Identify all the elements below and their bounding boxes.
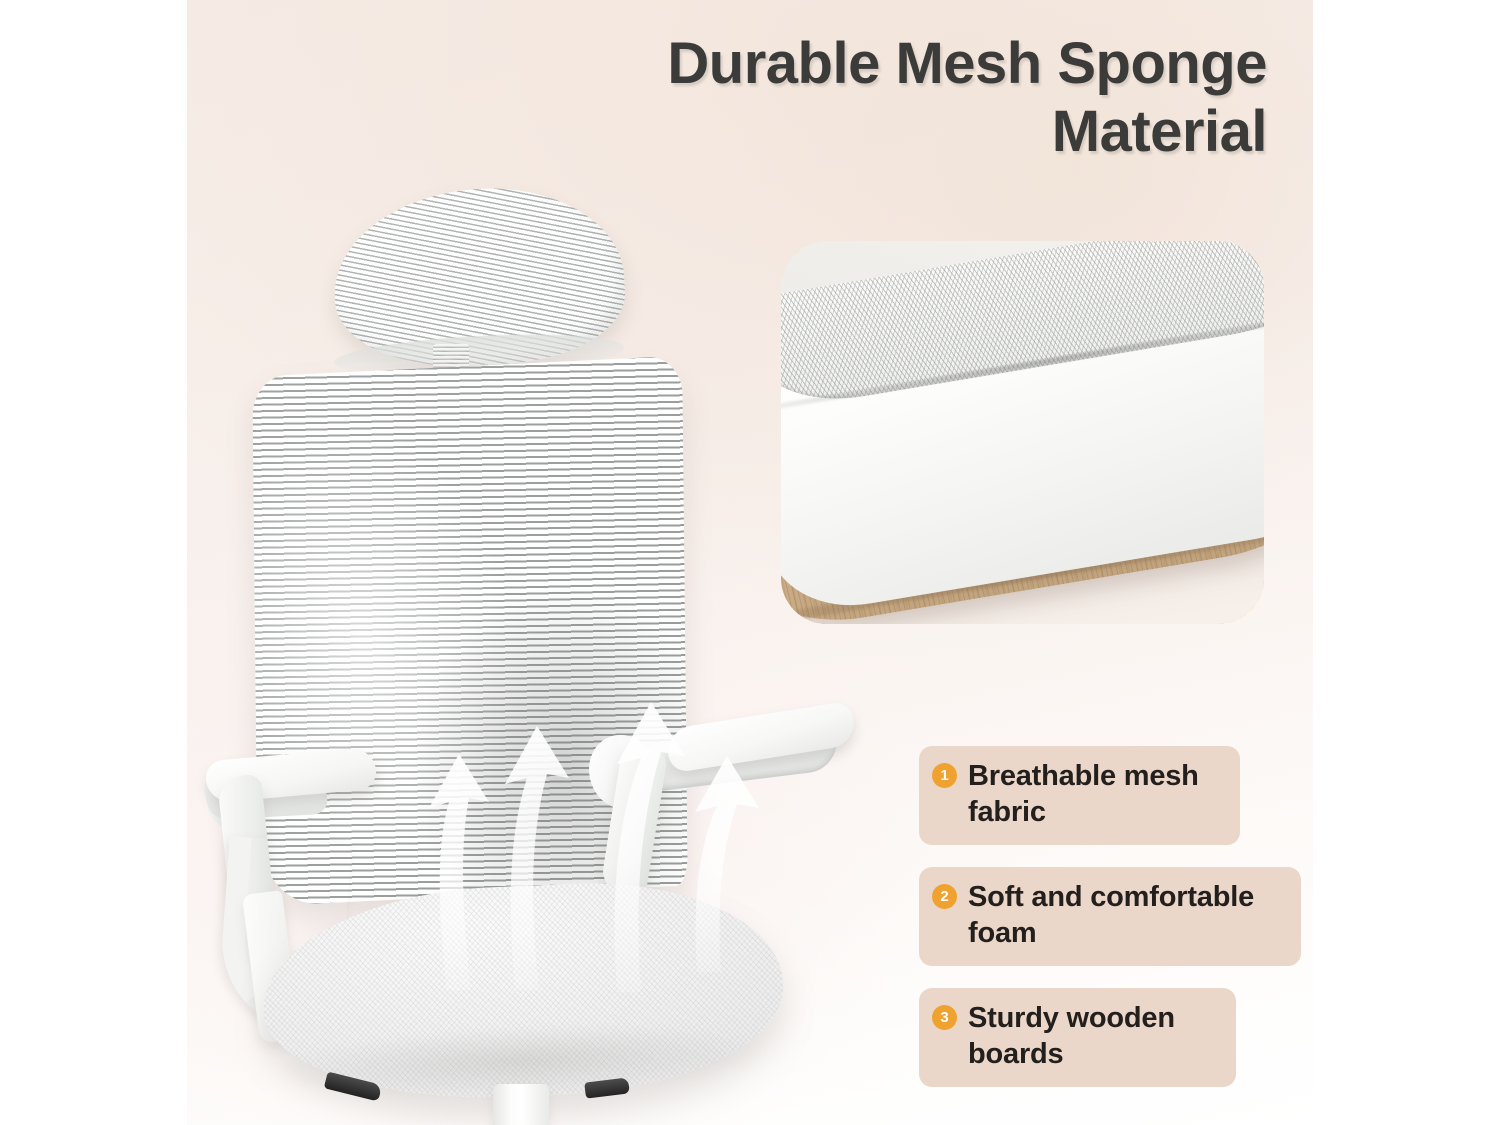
cushion-closeup-dashed-frame: [781, 241, 1264, 624]
page-title-line-2: Material: [327, 98, 1267, 166]
feature-number-badge-1: 1: [932, 763, 957, 788]
infographic-canvas: Durable Mesh Sponge Material: [187, 0, 1313, 1125]
feature-item-soft-comfortable-foam: 2 Soft and comfortable foam: [919, 867, 1301, 966]
feature-item-breathable-mesh-fabric: 1 Breathable mesh fabric: [919, 746, 1240, 845]
feature-item-sturdy-wooden-boards: 3 Sturdy wooden boards: [919, 988, 1236, 1087]
page-title-line-1: Durable Mesh Sponge: [327, 30, 1267, 98]
feature-number-badge-2: 2: [932, 884, 957, 909]
feature-label-1: Breathable mesh fabric: [968, 759, 1224, 831]
gas-cylinder: [493, 1084, 549, 1125]
page-title: Durable Mesh Sponge Material: [327, 30, 1267, 167]
feature-label-3: Sturdy wooden boards: [968, 1001, 1220, 1073]
feature-list: 1 Breathable mesh fabric 2 Soft and comf…: [919, 746, 1313, 1109]
cushion-closeup-photo: [781, 241, 1264, 624]
feature-label-2: Soft and comfortable foam: [968, 880, 1285, 952]
feature-number-badge-3: 3: [932, 1005, 957, 1030]
infographic-page: Durable Mesh Sponge Material: [0, 0, 1500, 1125]
